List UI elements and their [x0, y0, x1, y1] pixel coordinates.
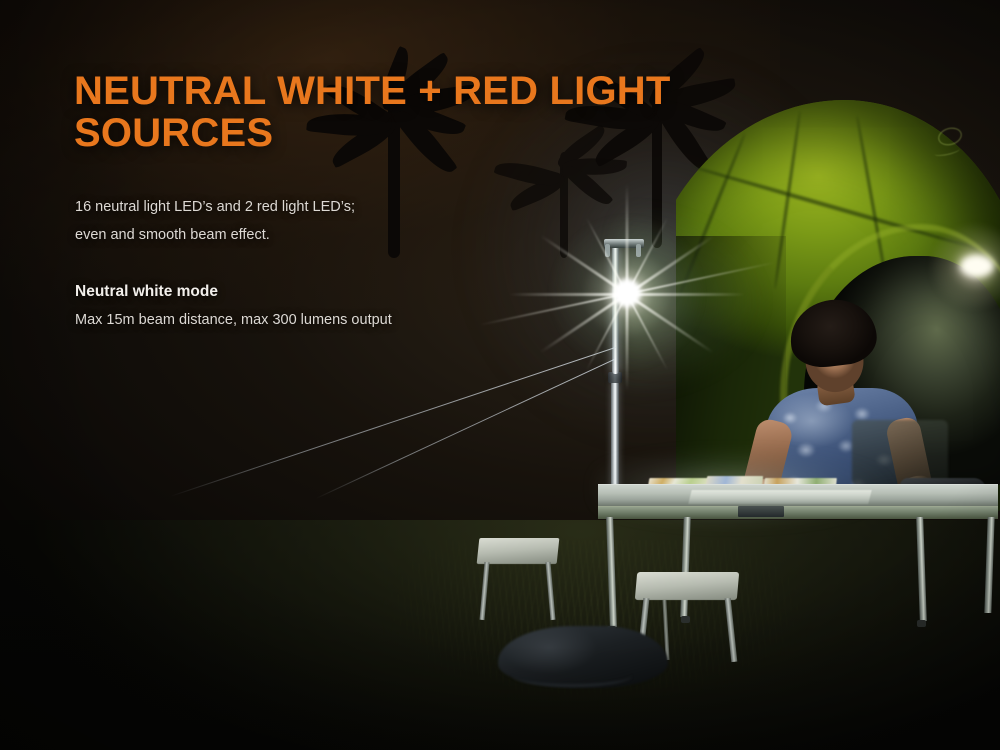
table-leg: [984, 517, 994, 613]
table-foot: [681, 616, 690, 623]
telescoping-pole-lower: [611, 381, 619, 505]
backpack-strap: [512, 664, 632, 687]
copy-block: NEUTRAL WHITE + RED LIGHT SOURCES 16 neu…: [74, 70, 674, 328]
folding-stool-front: [635, 572, 739, 600]
table-leg: [916, 517, 927, 621]
page-title: NEUTRAL WHITE + RED LIGHT SOURCES: [74, 70, 674, 155]
subcopy-text: 16 neutral light LED’s and 2 red light L…: [75, 193, 674, 250]
stool-leg: [545, 562, 555, 620]
table-foot: [607, 626, 616, 633]
table-foot: [917, 620, 926, 627]
table-leg: [606, 517, 617, 627]
grass-texture: [380, 540, 860, 720]
folding-stool-back: [477, 538, 560, 564]
mode-block: Neutral white mode Max 15m beam distance…: [75, 283, 674, 328]
mode-title: Neutral white mode: [75, 283, 674, 301]
stool-leg: [479, 562, 489, 620]
stool-leg: [637, 598, 650, 664]
pole-foot: [604, 498, 626, 506]
camper-reading-map: [756, 300, 946, 510]
pole-joint: [608, 372, 622, 383]
hair: [786, 295, 879, 371]
tent-guy-line: [170, 347, 616, 497]
table-leg: [680, 517, 690, 617]
mode-description: Max 15m beam distance, max 300 lumens ou…: [75, 312, 674, 328]
tent-guy-line: [316, 359, 616, 499]
product-feature-slide: NEUTRAL WHITE + RED LIGHT SOURCES 16 neu…: [0, 0, 1000, 750]
stool-leg: [725, 598, 738, 662]
stool-leg: [662, 600, 669, 660]
